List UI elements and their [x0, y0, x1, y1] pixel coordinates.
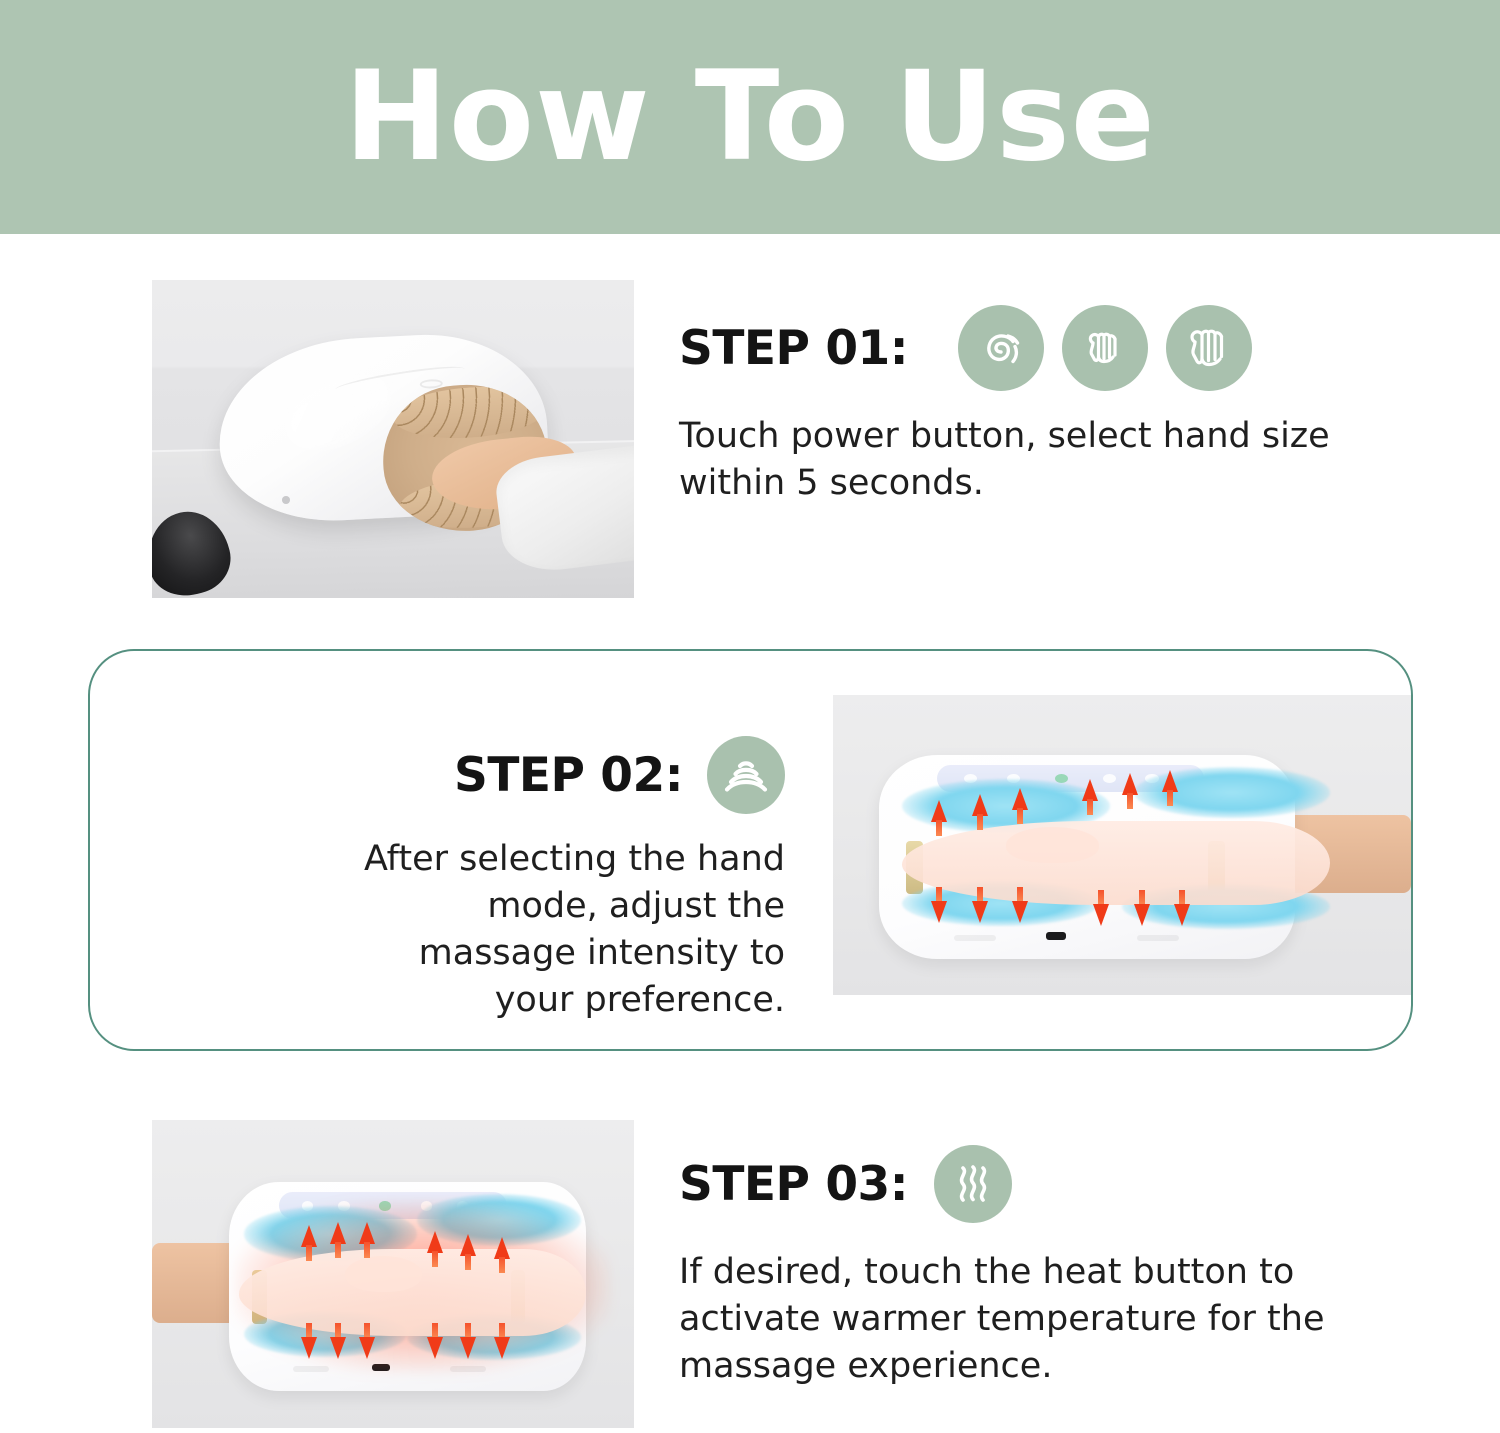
- step-02-body-text: After selecting the hand mode, adjust th…: [330, 836, 785, 1024]
- step-03-header: STEP 03:: [679, 1145, 1359, 1223]
- photo-heat-therapy-diagram: [152, 1120, 634, 1428]
- step-03-title: STEP 03:: [679, 1161, 908, 1208]
- device-foot: [954, 935, 996, 941]
- small-hand-icon: [1062, 305, 1148, 391]
- step-01-body-text: Touch power button, select hand size wit…: [679, 413, 1379, 507]
- led-indicator: [1103, 774, 1116, 784]
- step-02-header: STEP 02:: [330, 736, 785, 814]
- compression-arrow-down: [359, 1323, 375, 1345]
- spacer: [679, 391, 1379, 413]
- heat-waves-icon: [934, 1145, 1012, 1223]
- usb-charging-port: [1046, 932, 1067, 939]
- compression-arrow-down: [301, 1323, 317, 1345]
- step-02-block: STEP 02: After selecting the hand mode, …: [330, 736, 785, 1024]
- photo-airbag-compression-diagram: [833, 695, 1411, 995]
- page-title: How To Use: [344, 55, 1156, 179]
- compression-arrow-down: [460, 1323, 476, 1345]
- compression-arrow-down: [330, 1323, 346, 1345]
- compression-arrow-down: [931, 887, 947, 909]
- step-03-block: STEP 03: If desired, touch the heat butt…: [679, 1145, 1359, 1390]
- step-03-body-text: If desired, touch the heat button to act…: [679, 1249, 1359, 1390]
- header-banner: How To Use: [0, 0, 1500, 234]
- compression-arrow-down: [427, 1323, 443, 1345]
- step-02-title: STEP 02:: [454, 752, 683, 799]
- device-foot: [1137, 935, 1179, 941]
- hand-silhouette: [902, 821, 1330, 905]
- compression-arrow-down: [1012, 887, 1028, 909]
- compression-arrow-down: [972, 887, 988, 909]
- thumb-silhouette: [345, 1256, 422, 1293]
- compression-arrow-down: [1134, 890, 1150, 912]
- step-01-block: STEP 01:: [679, 305, 1379, 507]
- compression-arrow-down: [1174, 890, 1190, 912]
- charging-port-dot: [282, 496, 290, 504]
- photo-device-on-desk: [152, 280, 634, 598]
- spiral-massage-icon: [958, 305, 1044, 391]
- how-to-use-infographic: How To Use STEP 01:: [0, 0, 1500, 1433]
- large-hand-icon: [1166, 305, 1252, 391]
- pressure-waves-icon: [707, 736, 785, 814]
- step-01-header: STEP 01:: [679, 305, 1379, 391]
- compression-arrow-down: [494, 1323, 510, 1345]
- step-01-title: STEP 01:: [679, 325, 908, 372]
- compression-arrow-down: [1093, 890, 1109, 912]
- thumb-silhouette: [1006, 827, 1098, 863]
- step-01-icon-row: [958, 305, 1252, 391]
